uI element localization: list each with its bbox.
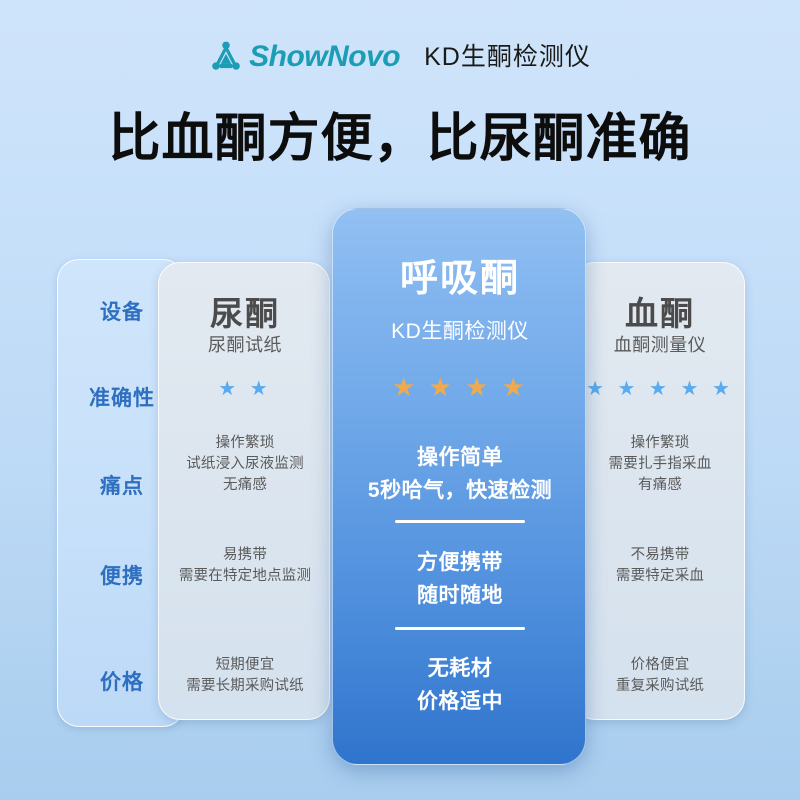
urine-price-text: 短期便宜需要长期采购试纸 [159,655,331,697]
blood-pain-text: 操作繁琐需要扎手指采血有痛感 [574,433,746,496]
breath-pain-text: 操作简单5秒哈气，快速检测 [333,441,586,507]
urine-title: 尿酮 [159,287,331,335]
blood-price-text: 价格便宜重复采购试纸 [574,655,746,697]
breath-subtitle: KD生酮检测仪 [333,315,586,345]
column-card-breath-highlighted[interactable]: 呼吸酮 KD生酮检测仪 ★ ★ ★ ★ 操作简单5秒哈气，快速检测 方便携带随时… [332,208,586,765]
comparison-board: 设备 准确性 痛点 便携 价格 尿酮 尿酮试纸 ★ ★ 操作繁琐试纸浸入尿液监测… [0,0,800,800]
breath-star-rating: ★ ★ ★ ★ [333,374,586,400]
breath-title: 呼吸酮 [333,247,586,302]
urine-subtitle: 尿酮试纸 [159,331,331,357]
column-card-urine[interactable]: 尿酮 尿酮试纸 ★ ★ 操作繁琐试纸浸入尿液监测无痛感 易携带需要在特定地点监测… [158,262,330,720]
urine-pain-text: 操作繁琐试纸浸入尿液监测无痛感 [159,433,331,496]
blood-portable-text: 不易携带需要特定采血 [574,545,746,587]
blood-star-rating: ★ ★ ★ ★ ★ [574,379,746,399]
blood-subtitle: 血酮测量仪 [574,331,746,357]
breath-divider-two [395,627,525,630]
breath-price-text: 无耗材价格适中 [333,652,586,718]
breath-portable-text: 方便携带随时随地 [333,546,586,612]
breath-divider-one [395,520,525,523]
urine-star-rating: ★ ★ [159,379,331,399]
urine-portable-text: 易携带需要在特定地点监测 [159,545,331,587]
column-card-blood[interactable]: 血酮 血酮测量仪 ★ ★ ★ ★ ★ 操作繁琐需要扎手指采血有痛感 不易携带需要… [573,262,745,720]
blood-title: 血酮 [574,287,746,335]
